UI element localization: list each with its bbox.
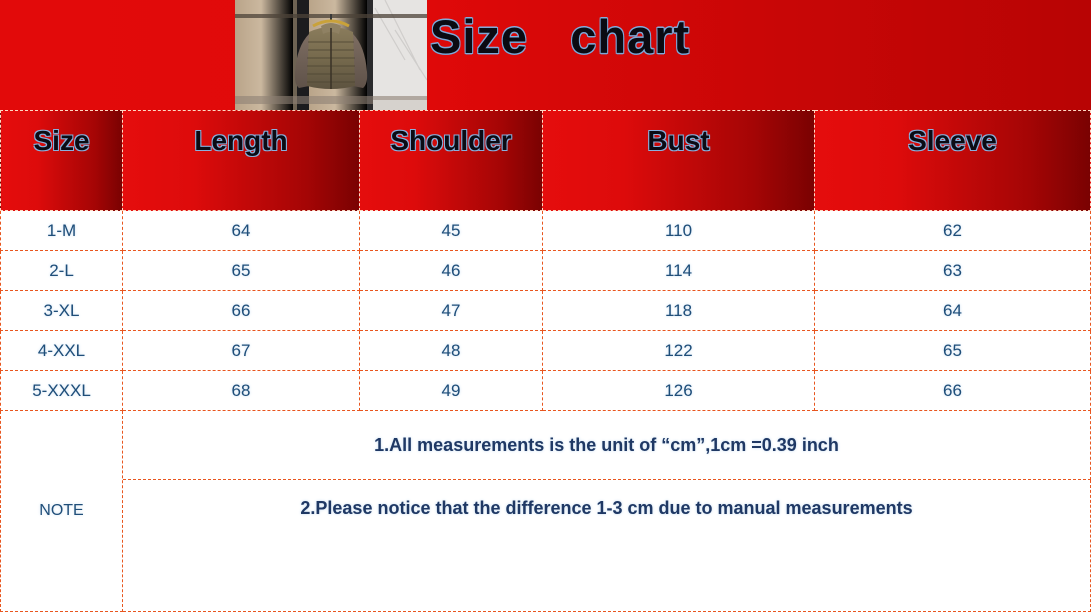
note-label: NOTE: [39, 502, 83, 520]
size-chart-page: Size chart: [0, 0, 1091, 612]
cell-bust: 126: [664, 381, 692, 401]
table-row: 67: [123, 331, 360, 371]
table-row: 122: [543, 331, 815, 371]
table-row: 3-XL: [0, 291, 123, 331]
note-line-2: 2.Please notice that the difference 1-3 …: [300, 498, 912, 519]
title-banner: Size chart: [0, 0, 1091, 110]
cell-sleeve: 62: [943, 221, 962, 241]
jacket-photo-illustration: [235, 0, 427, 114]
size-table: Size Length Shoulder Bust Sleeve 1-M 64 …: [0, 110, 1091, 612]
cell-bust: 110: [665, 221, 692, 241]
cell-shoulder: 45: [442, 221, 461, 241]
table-row: 2-L: [0, 251, 123, 291]
page-title: Size chart: [430, 9, 690, 64]
table-row: 66: [123, 291, 360, 331]
table-row: 63: [815, 251, 1091, 291]
column-header-length: Length: [123, 110, 360, 211]
cell-shoulder: 49: [442, 381, 461, 401]
cell-bust: 118: [665, 301, 692, 321]
table-row: 64: [123, 211, 360, 251]
product-photo: [235, 0, 427, 114]
cell-sleeve: 65: [943, 341, 962, 361]
table-row: 65: [815, 331, 1091, 371]
table-row: 46: [360, 251, 543, 291]
cell-size: 2-L: [49, 261, 74, 281]
cell-shoulder: 47: [442, 301, 461, 321]
table-row: 66: [815, 371, 1091, 411]
table-row: 64: [815, 291, 1091, 331]
cell-size: 3-XL: [44, 301, 80, 321]
table-row: 65: [123, 251, 360, 291]
column-header-length-label: Length: [194, 125, 287, 157]
cell-length: 65: [232, 261, 251, 281]
cell-size: 5-XXXL: [32, 381, 91, 401]
cell-length: 64: [232, 221, 251, 241]
table-row: 48: [360, 331, 543, 371]
cell-size: 1-M: [47, 221, 76, 241]
table-row: 47: [360, 291, 543, 331]
column-header-shoulder-label: Shoulder: [390, 125, 511, 157]
table-row: 49: [360, 371, 543, 411]
cell-sleeve: 64: [943, 301, 962, 321]
cell-shoulder: 46: [442, 261, 461, 281]
table-row: 1-M: [0, 211, 123, 251]
cell-length: 66: [232, 301, 251, 321]
table-row: 126: [543, 371, 815, 411]
cell-length: 67: [232, 341, 251, 361]
note-line-2-cell: 2.Please notice that the difference 1-3 …: [123, 480, 1091, 612]
table-row: 114: [543, 251, 815, 291]
column-header-shoulder: Shoulder: [360, 110, 543, 211]
column-header-sleeve-label: Sleeve: [908, 125, 997, 157]
cell-length: 68: [232, 381, 251, 401]
column-header-size-label: Size: [33, 125, 89, 157]
column-header-sleeve: Sleeve: [815, 110, 1091, 211]
note-line-1-cell: 1.All measurements is the unit of “cm”,1…: [123, 411, 1091, 480]
table-row: 62: [815, 211, 1091, 251]
column-header-bust-label: Bust: [647, 125, 709, 157]
table-row: 110: [543, 211, 815, 251]
note-line-1: 1.All measurements is the unit of “cm”,1…: [374, 435, 839, 456]
table-row: 118: [543, 291, 815, 331]
cell-size: 4-XXL: [38, 341, 85, 361]
cell-sleeve: 66: [943, 381, 962, 401]
column-header-size: Size: [0, 110, 123, 211]
cell-shoulder: 48: [442, 341, 461, 361]
table-row: 5-XXXL: [0, 371, 123, 411]
table-row: 4-XXL: [0, 331, 123, 371]
column-header-bust: Bust: [543, 110, 815, 211]
cell-bust: 122: [664, 341, 692, 361]
table-row: 45: [360, 211, 543, 251]
cell-sleeve: 63: [943, 261, 962, 281]
cell-bust: 114: [665, 261, 692, 281]
table-row: 68: [123, 371, 360, 411]
note-label-cell: NOTE: [0, 411, 123, 612]
